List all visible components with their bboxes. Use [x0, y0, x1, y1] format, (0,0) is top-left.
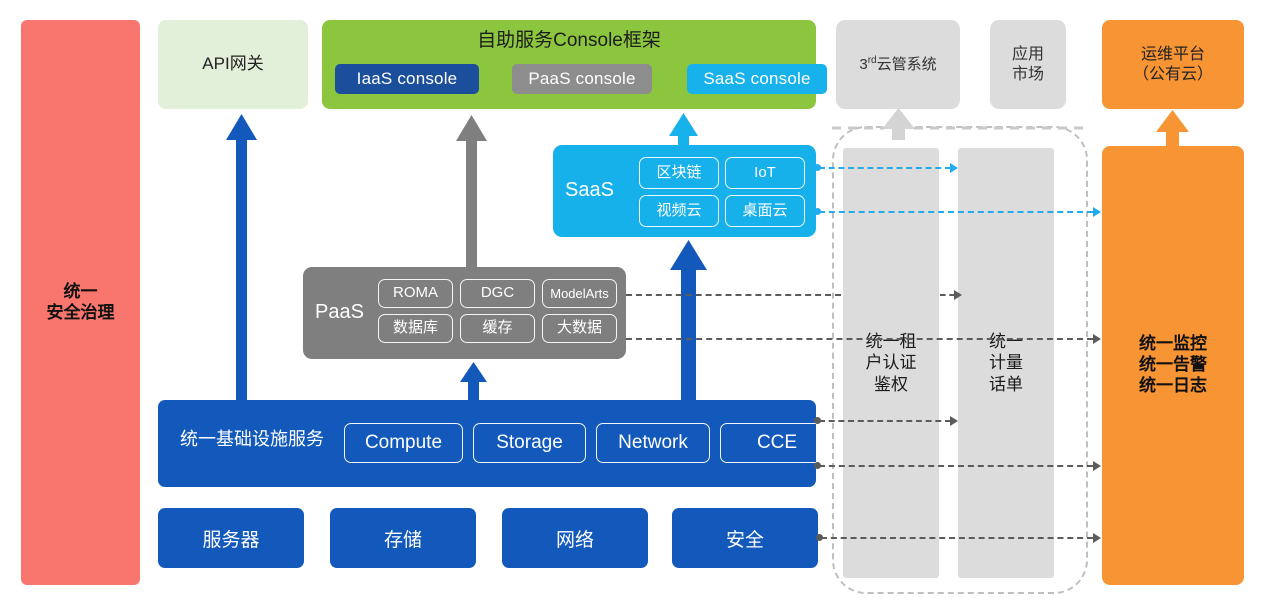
dashed-connector-auth-to-metering	[940, 294, 955, 296]
arrowhead-paas-to-ops	[1093, 334, 1101, 344]
third-party-cloud-management-label: 3rd云管系统	[859, 55, 936, 74]
security-governance-column: 统一 安全治理	[21, 20, 140, 585]
saas-service-desktop-cloud-label: 桌面云	[742, 202, 787, 220]
arrow-paas-to-console	[456, 115, 487, 267]
dashed-connector-iaas-to-ops	[819, 465, 1093, 467]
arrow-ops-column-to-ops-platform	[1156, 110, 1189, 146]
dashed-connector-paas-to-auth	[626, 294, 841, 296]
saas-service-video-cloud[interactable]: 视频云	[639, 195, 719, 227]
third-party-ordinal-sup: rd	[868, 55, 877, 66]
paas-service-database[interactable]: 数据库	[378, 314, 453, 343]
iaas-service-storage-label: Storage	[496, 431, 563, 454]
ops-platform-label: 运维平台 （公有云）	[1133, 45, 1213, 84]
app-market-box: 应用 市场	[990, 20, 1066, 109]
paas-layer-label: PaaS	[315, 300, 364, 324]
dashed-connector-paas-to-ops	[626, 338, 1093, 340]
api-gateway-label: API网关	[202, 54, 263, 75]
dashed-connector-hardware-to-ops	[821, 537, 1093, 539]
iaas-service-cce[interactable]: CCE	[720, 423, 834, 463]
third-party-cloud-management-box: 3rd云管系统	[836, 20, 960, 109]
self-service-console-framework: 自助服务Console框架 IaaS console PaaS console …	[322, 20, 816, 109]
saas-console-label: SaaS console	[703, 69, 810, 90]
iaas-console-label: IaaS console	[357, 69, 458, 90]
paas-service-database-label: 数据库	[393, 319, 438, 337]
console-framework-title: 自助服务Console框架	[322, 29, 816, 52]
iaas-service-compute[interactable]: Compute	[344, 423, 463, 463]
ops-platform-box: 运维平台 （公有云）	[1102, 20, 1244, 109]
saas-service-blockchain-label: 区块链	[656, 164, 701, 182]
security-governance-label: 统一 安全治理	[47, 282, 115, 323]
architecture-diagram: 统一 安全治理 API网关 自助服务Console框架 IaaS console…	[0, 0, 1265, 605]
arrow-iaas-to-saas	[670, 240, 707, 400]
paas-service-roma-label: ROMA	[393, 284, 438, 302]
saas-service-blockchain[interactable]: 区块链	[639, 157, 719, 189]
saas-service-desktop-cloud[interactable]: 桌面云	[725, 195, 805, 227]
arrowhead-iaas-to-metering	[950, 416, 958, 426]
paas-console-button[interactable]: PaaS console	[512, 64, 652, 94]
saas-layer: SaaS 区块链 IoT 视频云 桌面云	[553, 145, 816, 237]
paas-service-modelarts-label: ModelArts	[550, 286, 609, 302]
hardware-network-label: 网络	[556, 525, 594, 552]
saas-layer-label: SaaS	[565, 178, 614, 202]
ops-monitoring-column: 统一监控 统一告警 统一日志	[1102, 146, 1244, 585]
third-party-prefix: 3	[859, 56, 867, 73]
paas-service-cache-label: 缓存	[482, 319, 512, 337]
arrowhead-saas-to-ops	[1093, 207, 1101, 217]
hardware-server-box[interactable]: 服务器	[158, 508, 304, 568]
paas-layer: PaaS ROMA DGC ModelArts 数据库 缓存 大数据	[303, 267, 626, 359]
hardware-storage-box[interactable]: 存储	[330, 508, 476, 568]
arrow-iaas-to-paas	[460, 362, 487, 400]
metering-billing-label: 统一 计量 话单	[989, 331, 1023, 395]
paas-service-dgc[interactable]: DGC	[460, 279, 535, 308]
arrowhead-saas-to-metering	[950, 163, 958, 173]
paas-service-modelarts[interactable]: ModelArts	[542, 279, 617, 308]
arrowhead-auth-to-metering	[954, 290, 962, 300]
dashed-connector-saas-to-metering	[819, 167, 951, 169]
paas-console-label: PaaS console	[528, 69, 635, 90]
arrow-saas-to-saas-console	[669, 113, 698, 146]
third-party-rest: 云管系统	[877, 56, 937, 73]
iaas-service-network-label: Network	[618, 431, 688, 454]
dashed-connector-saas-to-ops	[819, 211, 1093, 213]
iaas-service-network[interactable]: Network	[596, 423, 710, 463]
iaas-console-button[interactable]: IaaS console	[335, 64, 479, 94]
iaas-service-storage[interactable]: Storage	[473, 423, 586, 463]
iaas-layer: 统一基础设施服务 Compute Storage Network CCE	[158, 400, 816, 487]
hardware-security-box[interactable]: 安全	[672, 508, 818, 568]
iaas-service-cce-label: CCE	[757, 431, 797, 454]
paas-service-bigdata-label: 大数据	[557, 319, 602, 337]
paas-service-dgc-label: DGC	[481, 284, 514, 302]
hardware-server-label: 服务器	[202, 525, 259, 552]
saas-service-iot-label: IoT	[754, 164, 776, 182]
arrowhead-iaas-to-ops	[1093, 461, 1101, 471]
tenant-auth-label: 统一租 户认证 鉴权	[866, 331, 917, 395]
hardware-storage-label: 存储	[384, 525, 422, 552]
saas-console-button[interactable]: SaaS console	[687, 64, 827, 94]
ops-monitoring-label: 统一监控 统一告警 统一日志	[1139, 334, 1207, 396]
paas-service-bigdata[interactable]: 大数据	[542, 314, 617, 343]
saas-service-video-cloud-label: 视频云	[656, 202, 701, 220]
arrow-iaas-to-api-gateway	[226, 114, 257, 400]
hardware-security-label: 安全	[726, 525, 764, 552]
paas-service-roma[interactable]: ROMA	[378, 279, 453, 308]
hardware-network-box[interactable]: 网络	[502, 508, 648, 568]
app-market-label: 应用 市场	[1012, 45, 1044, 84]
api-gateway-box: API网关	[158, 20, 308, 109]
dashed-connector-iaas-to-metering	[819, 420, 951, 422]
paas-service-cache[interactable]: 缓存	[460, 314, 535, 343]
arrowhead-hardware-to-ops	[1093, 533, 1101, 543]
iaas-service-compute-label: Compute	[365, 431, 442, 454]
iaas-layer-label: 统一基础设施服务	[180, 429, 324, 451]
saas-service-iot[interactable]: IoT	[725, 157, 805, 189]
